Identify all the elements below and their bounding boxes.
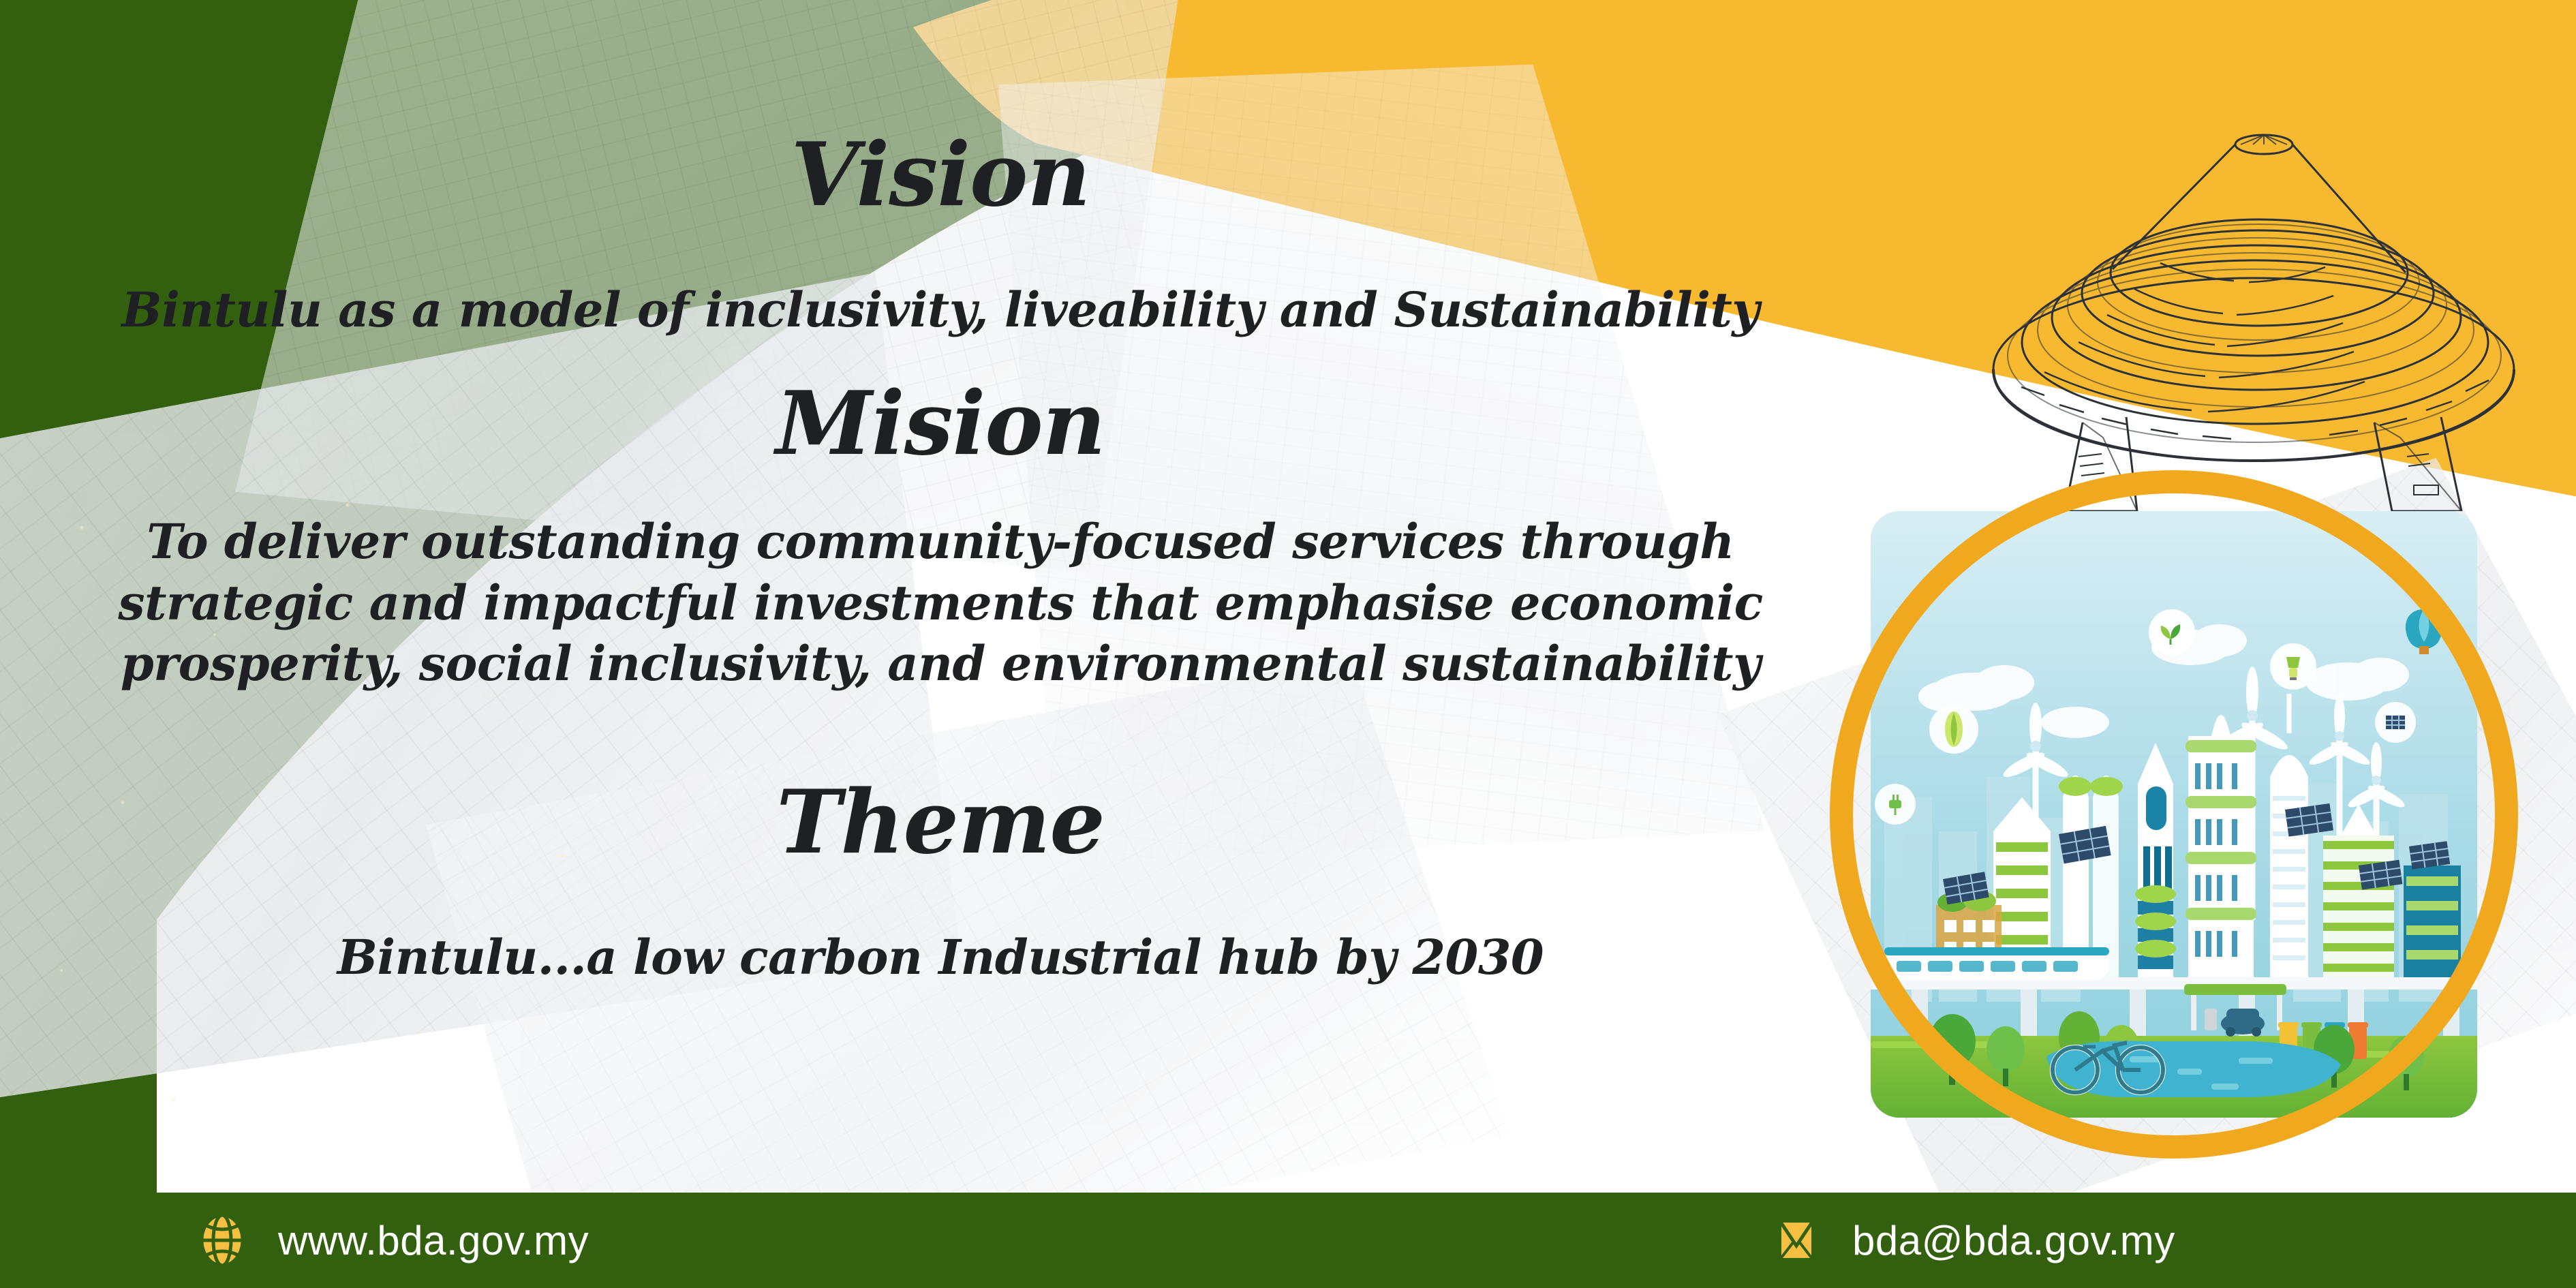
- globe-icon: [198, 1213, 247, 1268]
- theme-heading: Theme: [0, 777, 1881, 868]
- eco-city-circle: [1830, 470, 2518, 1159]
- footer-email-text[interactable]: bda@bda.gov.my: [1852, 1217, 2175, 1264]
- envelope-icon: [1772, 1213, 1821, 1268]
- vision-mission-theme-content: Vision Bintulu as a model of inclusivity…: [0, 0, 1881, 1193]
- mission-heading: Mision: [0, 378, 1881, 470]
- mission-statement: To deliver outstanding community-focused…: [0, 511, 1881, 694]
- vision-statement: Bintulu as a model of inclusivity, livea…: [0, 279, 1881, 341]
- mission-line-2: strategic and impactful investments that…: [0, 572, 1881, 634]
- mission-line-3: prosperity, social inclusivity, and envi…: [0, 633, 1881, 694]
- mission-line-1: To deliver outstanding community-focused…: [0, 511, 1881, 572]
- theme-statement: Bintulu...a low carbon Industrial hub by…: [0, 927, 1881, 988]
- contact-footer-bar: www.bda.gov.my bda@bda.gov.my: [0, 1193, 2576, 1288]
- conical-building-icon: [1956, 102, 2556, 511]
- footer-email-item[interactable]: bda@bda.gov.my: [1772, 1213, 2175, 1268]
- vision-heading: Vision: [0, 129, 1881, 221]
- bda-vision-mission-banner: Vision Bintulu as a model of inclusivity…: [0, 0, 2576, 1288]
- footer-website-item[interactable]: www.bda.gov.my: [198, 1213, 589, 1268]
- footer-website-text[interactable]: www.bda.gov.my: [278, 1217, 589, 1264]
- eco-city-orange-ring: [1830, 470, 2518, 1159]
